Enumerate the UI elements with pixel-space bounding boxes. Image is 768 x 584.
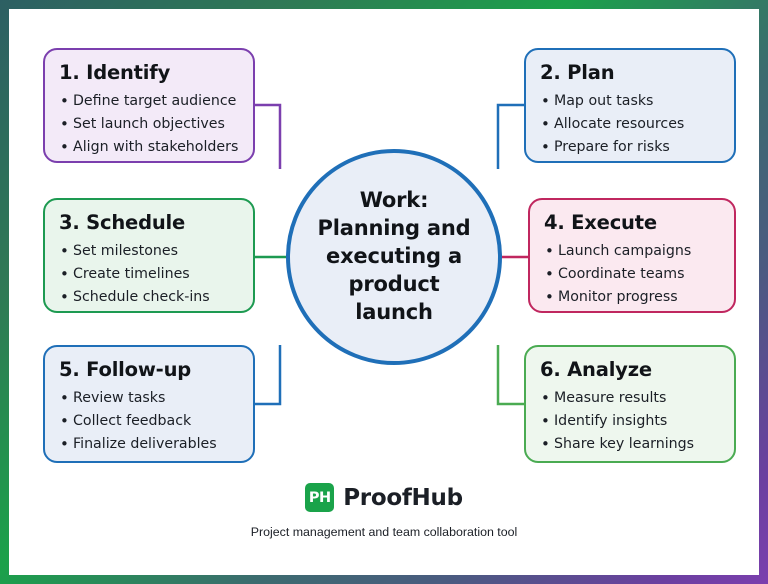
list-item: Prepare for risks <box>540 136 720 159</box>
list-item: Collect feedback <box>59 410 239 433</box>
step-card-title: 6. Analyze <box>540 359 720 380</box>
step-card-bullets: Map out tasks Allocate resources Prepare… <box>540 90 720 159</box>
step-card-title: 1. Identify <box>59 62 239 83</box>
connector-box-5 <box>255 345 280 404</box>
step-card-plan[interactable]: 2. Plan Map out tasks Allocate resources… <box>524 48 736 163</box>
list-item: Launch campaigns <box>544 240 720 263</box>
gradient-frame: 1. Identify Define target audience Set l… <box>0 0 768 584</box>
list-item: Set milestones <box>59 240 239 263</box>
list-item: Measure results <box>540 387 720 410</box>
list-item: Coordinate teams <box>544 263 720 286</box>
list-item: Review tasks <box>59 387 239 410</box>
step-card-bullets: Launch campaigns Coordinate teams Monito… <box>544 240 720 309</box>
step-card-execute[interactable]: 4. Execute Launch campaigns Coordinate t… <box>528 198 736 313</box>
center-hub[interactable]: Work: Planning and executing a product l… <box>286 149 502 365</box>
list-item: Map out tasks <box>540 90 720 113</box>
step-card-bullets: Define target audience Set launch object… <box>59 90 239 159</box>
connector-box-2 <box>498 105 524 169</box>
brand-tagline: Project management and team collaboratio… <box>9 525 759 539</box>
diagram-canvas: 1. Identify Define target audience Set l… <box>9 9 759 575</box>
step-card-schedule[interactable]: 3. Schedule Set milestones Create timeli… <box>43 198 255 313</box>
step-card-follow-up[interactable]: 5. Follow-up Review tasks Collect feedba… <box>43 345 255 463</box>
list-item: Allocate resources <box>540 113 720 136</box>
list-item: Set launch objectives <box>59 113 239 136</box>
list-item: Create timelines <box>59 263 239 286</box>
list-item: Monitor progress <box>544 286 720 309</box>
step-card-title: 5. Follow-up <box>59 359 239 380</box>
footer: PH ProofHub Project management and team … <box>9 483 759 539</box>
list-item: Define target audience <box>59 90 239 113</box>
step-card-identify[interactable]: 1. Identify Define target audience Set l… <box>43 48 255 163</box>
brand-row: PH ProofHub <box>9 483 759 512</box>
step-card-title: 3. Schedule <box>59 212 239 233</box>
list-item: Identify insights <box>540 410 720 433</box>
step-card-title: 4. Execute <box>544 212 720 233</box>
step-card-analyze[interactable]: 6. Analyze Measure results Identify insi… <box>524 345 736 463</box>
list-item: Schedule check-ins <box>59 286 239 309</box>
connector-box-1 <box>255 105 280 169</box>
list-item: Finalize deliverables <box>59 433 239 456</box>
proofhub-logo-icon: PH <box>305 483 334 512</box>
step-card-bullets: Set milestones Create timelines Schedule… <box>59 240 239 309</box>
step-card-bullets: Review tasks Collect feedback Finalize d… <box>59 387 239 456</box>
connector-box-6 <box>498 345 524 404</box>
brand-name: ProofHub <box>343 485 463 511</box>
step-card-bullets: Measure results Identify insights Share … <box>540 387 720 456</box>
step-card-title: 2. Plan <box>540 62 720 83</box>
list-item: Align with stakeholders <box>59 136 239 159</box>
list-item: Share key learnings <box>540 433 720 456</box>
center-hub-label: Work: Planning and executing a product l… <box>308 187 481 327</box>
